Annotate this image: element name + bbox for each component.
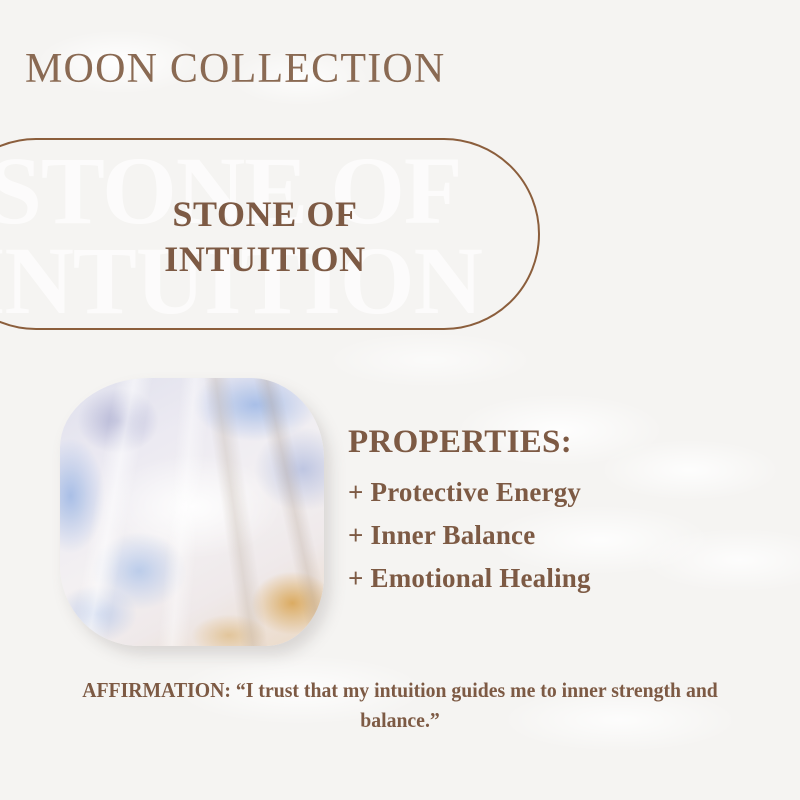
moonstone-image (46, 372, 336, 657)
badge-title: STONE OF INTUITION (60, 146, 470, 326)
properties-heading: PROPERTIES: (348, 424, 591, 461)
badge-title-line-1: STONE OF (172, 196, 357, 232)
property-item: + Inner Balance (348, 520, 591, 551)
page-title: MOON COLLECTION (25, 45, 445, 93)
properties-section: PROPERTIES: + Protective Energy + Inner … (348, 424, 591, 606)
property-item: + Protective Energy (348, 477, 591, 508)
property-item: + Emotional Healing (348, 563, 591, 594)
moonstone-streaks (60, 378, 324, 646)
moonstone-body (60, 378, 324, 646)
affirmation-label: AFFIRMATION: (82, 678, 231, 702)
affirmation-block: AFFIRMATION: “I trust that my intuition … (52, 676, 748, 736)
badge-title-line-2: INTUITION (164, 241, 365, 277)
crystal-info-card: MOON COLLECTION STONE OF INTUITION STONE… (0, 0, 800, 800)
affirmation-quote: “I trust that my intuition guides me to … (236, 678, 718, 732)
